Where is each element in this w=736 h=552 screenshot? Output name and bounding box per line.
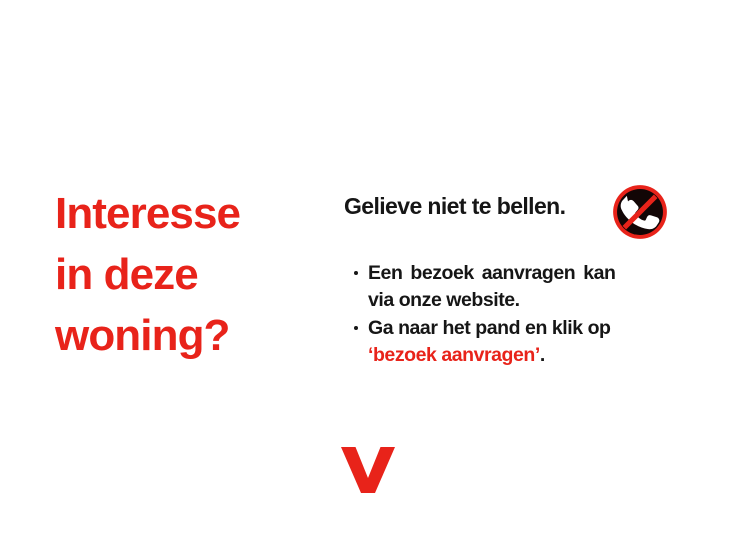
headline-block: Interesse in deze woning? [55,183,345,366]
accent-link-text[interactable]: bezoek aanvragen [373,344,535,366]
accent-trailing-period: . [540,344,545,366]
headline-line-3: woning? [55,305,345,366]
no-phone-call-icon [612,184,668,240]
brand-logo-v [341,447,395,493]
headline-line-2: in deze [55,244,345,305]
instructions-list: Een bezoek aanvragen kan via onze websit… [354,260,694,370]
list-item: Ga naar het pand en klik op ‘bezoek aanv… [354,315,694,369]
no-call-message: Gelieve niet te bellen. [344,192,565,220]
bullet-1-line-2: via onze website. [368,287,694,314]
bullet-1-line-1: Een bezoek aanvragen kan [368,260,694,287]
bullet-2-line-2: ‘bezoek aanvragen’. [368,342,694,369]
info-column: Gelieve niet te bellen. Een bezoek aanvr… [344,188,694,250]
bullet-dot-icon [354,271,358,275]
bullet-dot-icon [354,326,358,330]
bullet-2-line-1: Ga naar het pand en klik op [368,315,694,342]
callout-row: Gelieve niet te bellen. [344,188,694,250]
poster-canvas: Interesse in deze woning? Gelieve niet t… [0,0,736,552]
headline-line-1: Interesse [55,183,345,244]
list-item: Een bezoek aanvragen kan via onze websit… [354,260,694,314]
